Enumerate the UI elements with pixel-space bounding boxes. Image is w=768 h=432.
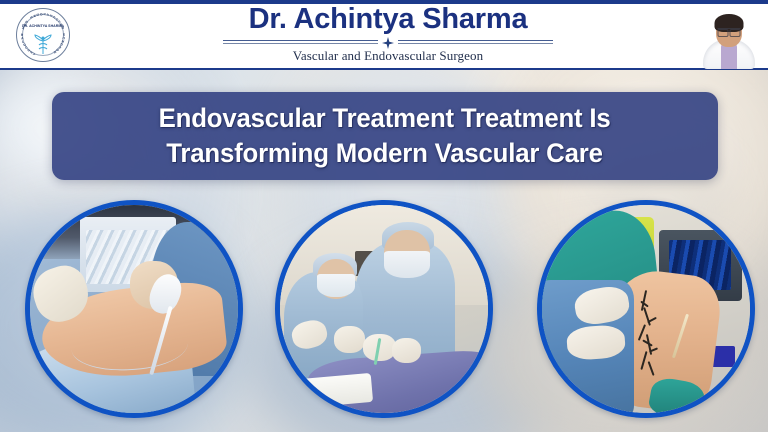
circle-photo-1[interactable]: [25, 200, 243, 418]
page-title: Dr. Achintya Sharma: [86, 4, 690, 35]
headline-line-1: Endovascular Treatment Treatment Is: [159, 101, 611, 136]
logo-container[interactable]: DR. ACHINTYA SHARMA VASCULAR AND ENDOVAS…: [0, 1, 86, 69]
header-divider: [223, 36, 553, 48]
circle-photo-1-image: [30, 205, 238, 413]
header-subtitle: Vascular and Endovascular Surgeon: [86, 49, 690, 64]
circle-photo-2-image: [280, 205, 488, 413]
headline-plate: Endovascular Treatment Treatment Is Tran…: [52, 92, 718, 180]
site-header: DR. ACHINTYA SHARMA VASCULAR AND ENDOVAS…: [0, 0, 768, 70]
portrait-glasses: [718, 28, 741, 35]
diamond-ornament-icon: [382, 36, 394, 48]
divider-line-left: [223, 40, 378, 44]
banner: DR. ACHINTYA SHARMA VASCULAR AND ENDOVAS…: [0, 0, 768, 432]
header-title-block: Dr. Achintya Sharma Vascular and Endovas…: [86, 4, 690, 67]
emblem-arc-text: VASCULAR AND ENDOVASCULAR SURGEON: [15, 7, 71, 63]
clinic-emblem-icon: DR. ACHINTYA SHARMA VASCULAR AND ENDOVAS…: [15, 7, 71, 63]
doctor-portrait: [690, 1, 768, 69]
circle-photo-3[interactable]: [537, 200, 755, 418]
headline-line-2: Transforming Modern Vascular Care: [167, 136, 603, 171]
circle-photo-2[interactable]: [275, 200, 493, 418]
doctor-portrait-image: [701, 7, 757, 69]
circle-photo-3-image: [542, 205, 750, 413]
divider-line-right: [398, 40, 553, 44]
